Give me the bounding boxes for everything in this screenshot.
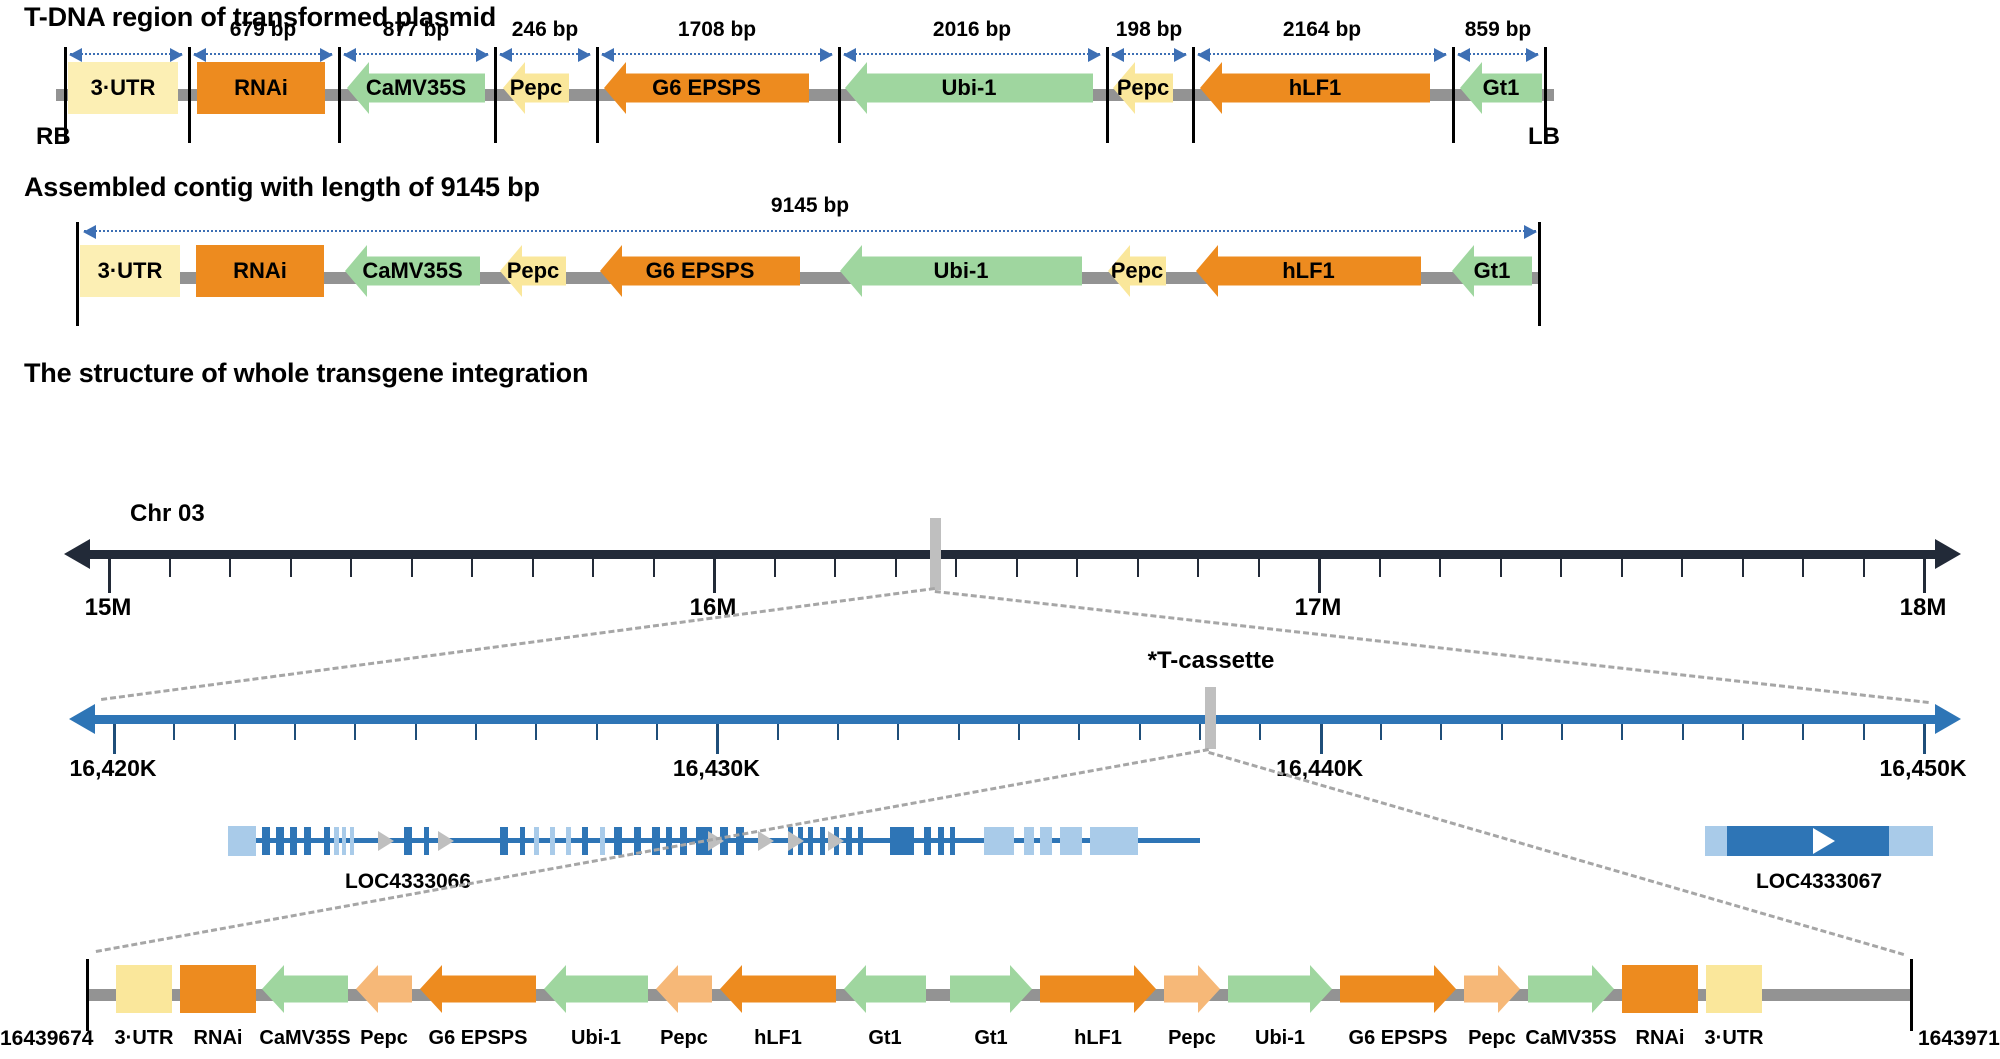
chromosome-major-tick bbox=[1318, 559, 1321, 593]
tdna-feature-label: 3·UTR bbox=[91, 75, 156, 101]
tdna-measure-label: 877 bp bbox=[383, 18, 450, 42]
tdna-feature-gt1: Gt1 bbox=[1460, 62, 1542, 114]
contig-feature-label: Pepc bbox=[1111, 258, 1164, 284]
chromosome-minor-tick bbox=[471, 559, 473, 577]
contig-feature-label: Gt1 bbox=[1474, 258, 1511, 284]
cassette-feature-6 bbox=[656, 965, 712, 1013]
cassette-feature-label: Gt1 bbox=[974, 1027, 1007, 1050]
tdna-feature-rnai: RNAi bbox=[197, 62, 325, 114]
cassette-feature-7 bbox=[720, 965, 836, 1013]
zoom-tick-label: 16,450K bbox=[1880, 755, 1967, 782]
gene-model-exon bbox=[666, 827, 672, 855]
contig-measure-arrow bbox=[84, 230, 1536, 232]
chromosome-minor-tick bbox=[1258, 559, 1260, 577]
zoom-minor-tick bbox=[1863, 724, 1865, 740]
gene-model-utr-exon bbox=[1060, 827, 1082, 855]
zoom-minor-tick bbox=[475, 724, 477, 740]
zoom-major-tick bbox=[1923, 724, 1926, 754]
tdna-measure-arrow bbox=[1112, 53, 1186, 55]
zoom-minor-tick bbox=[1742, 724, 1744, 740]
connector-chr-to-zoom-right bbox=[935, 590, 1929, 704]
gene-model-exon bbox=[262, 827, 270, 855]
zoom-minor-tick bbox=[415, 724, 417, 740]
contig-feature-hlf1: hLF1 bbox=[1196, 245, 1421, 297]
cassette-feature-label: CaMV35S bbox=[259, 1027, 350, 1050]
chromosome-minor-tick bbox=[1439, 559, 1441, 577]
tdna-feature-3utr: 3·UTR bbox=[68, 62, 178, 114]
zoom-major-tick bbox=[113, 724, 116, 754]
gene-model-label-loc4333067: LOC4333067 bbox=[1756, 870, 1882, 894]
gene-model-label-loc4333066: LOC4333066 bbox=[345, 870, 471, 894]
gene-model-direction-chevron bbox=[788, 831, 804, 851]
cassette-left-coordinate: 16439674 bbox=[0, 1027, 93, 1051]
zoom-minor-tick bbox=[1561, 724, 1563, 740]
cassette-feature-17 bbox=[1706, 965, 1762, 1013]
zoom-minor-tick bbox=[596, 724, 598, 740]
chromosome-minor-tick bbox=[1681, 559, 1683, 577]
zoom-minor-tick bbox=[777, 724, 779, 740]
tdna-boundary-bar bbox=[1452, 47, 1455, 143]
tdna-measure-label: 859 bp bbox=[1465, 18, 1532, 42]
chromosome-major-tick bbox=[713, 559, 716, 593]
cassette-feature-0 bbox=[116, 965, 172, 1013]
cassette-feature-1 bbox=[180, 965, 256, 1013]
chromosome-minor-tick bbox=[1621, 559, 1623, 577]
zoom-minor-tick bbox=[1682, 724, 1684, 740]
chromosome-minor-tick bbox=[532, 559, 534, 577]
gene-model-exon bbox=[424, 827, 429, 855]
tdna-measure-label: 1708 bp bbox=[678, 18, 756, 42]
cassette-feature-label: Pepc bbox=[1468, 1027, 1516, 1050]
cassette-feature-label: G6 EPSPS bbox=[429, 1027, 528, 1050]
zoom-tick-label: 16,440K bbox=[1276, 755, 1363, 782]
cassette-feature-5 bbox=[544, 965, 648, 1013]
tdna-boundary-bar bbox=[494, 47, 497, 143]
zoom-minor-tick bbox=[1018, 724, 1020, 740]
tdna-feature-hlf1: hLF1 bbox=[1200, 62, 1430, 114]
tdna-rb-label: RB bbox=[36, 123, 71, 151]
zoom-axis-line bbox=[95, 715, 1935, 724]
cassette-feature-3 bbox=[356, 965, 412, 1013]
chromosome-minor-tick bbox=[895, 559, 897, 577]
contig-feature-label: Ubi-1 bbox=[934, 258, 989, 284]
gene-model-exon bbox=[938, 827, 944, 855]
tdna-feature-label: G6 EPSPS bbox=[652, 75, 761, 101]
tdna-boundary-bar bbox=[596, 47, 599, 143]
chromosome-name-label: Chr 03 bbox=[130, 500, 205, 528]
tdna-feature-pepc: Pepc bbox=[503, 62, 569, 114]
gene-model-utr-exon bbox=[984, 827, 1014, 855]
cassette-feature-15 bbox=[1528, 965, 1614, 1013]
tdna-feature-ubi1: Ubi-1 bbox=[845, 62, 1093, 114]
zoom-minor-tick bbox=[1078, 724, 1080, 740]
chromosome-minor-tick bbox=[592, 559, 594, 577]
cassette-feature-label: Ubi-1 bbox=[571, 1027, 621, 1050]
cassette-feature-label: hLF1 bbox=[1074, 1027, 1122, 1050]
chromosome-major-tick bbox=[108, 559, 111, 593]
cassette-feature-label: G6 EPSPS bbox=[1349, 1027, 1448, 1050]
cassette-feature-label: Pepc bbox=[360, 1027, 408, 1050]
tdna-measure-arrow bbox=[1458, 53, 1538, 55]
gene-model-exon bbox=[520, 827, 525, 855]
chromosome-minor-tick bbox=[290, 559, 292, 577]
t-cassette-label: *T-cassette bbox=[1148, 647, 1275, 675]
tdna-feature-label: Gt1 bbox=[1483, 75, 1520, 101]
contig-feature-label: CaMV35S bbox=[362, 258, 462, 284]
cassette-feature-label: Pepc bbox=[660, 1027, 708, 1050]
figure-canvas: T-DNA region of transformed plasmid 679 … bbox=[0, 0, 2000, 1059]
gene-model-exon bbox=[846, 827, 852, 855]
chromosome-minor-tick bbox=[411, 559, 413, 577]
tdna-feature-label: Ubi-1 bbox=[942, 75, 997, 101]
gene-model-direction-chevron bbox=[758, 831, 774, 851]
zoom-tick-label: 16,430K bbox=[673, 755, 760, 782]
gene-model-utr-exon bbox=[1024, 827, 1034, 855]
tdna-measure-arrow bbox=[602, 53, 832, 55]
cassette-feature-label: RNAi bbox=[194, 1027, 243, 1050]
zoom-minor-tick bbox=[837, 724, 839, 740]
zoom-minor-tick bbox=[1621, 724, 1623, 740]
cassette-feature-label: 3·UTR bbox=[1705, 1027, 1764, 1050]
zoom-minor-tick bbox=[354, 724, 356, 740]
zoom-minor-tick bbox=[294, 724, 296, 740]
cassette-feature-12 bbox=[1228, 965, 1332, 1013]
gene-model-loc4333067-exon bbox=[1727, 826, 1889, 856]
gene-model-direction-chevron bbox=[1813, 828, 1835, 854]
cassette-feature-11 bbox=[1164, 965, 1220, 1013]
chromosome-axis-arrow-right bbox=[1935, 539, 1961, 569]
tdna-measure-label: 2164 bp bbox=[1283, 18, 1361, 42]
tdna-measure-label: 198 bp bbox=[1116, 18, 1183, 42]
gene-model-exon bbox=[820, 827, 825, 855]
contig-boundary-bar bbox=[1538, 222, 1541, 326]
gene-model-direction-chevron bbox=[378, 831, 394, 851]
cassette-feature-4 bbox=[420, 965, 536, 1013]
chromosome-axis-arrow-left bbox=[64, 539, 90, 569]
contig-feature-pepc: Pepc bbox=[500, 245, 566, 297]
chromosome-minor-tick bbox=[1076, 559, 1078, 577]
cassette-right-coordinate: 16439710 bbox=[1918, 1027, 2000, 1051]
cassette-feature-10 bbox=[1040, 965, 1156, 1013]
contig-feature-3utr: 3·UTR bbox=[80, 245, 180, 297]
zoom-axis-arrow-left bbox=[69, 704, 95, 734]
gene-model-direction-chevron bbox=[828, 831, 844, 851]
chromosome-minor-tick bbox=[1863, 559, 1865, 577]
contig-boundary-bar bbox=[76, 222, 79, 326]
chromosome-minor-tick bbox=[350, 559, 352, 577]
zoom-minor-tick bbox=[958, 724, 960, 740]
zoom-major-tick bbox=[1320, 724, 1323, 754]
chromosome-insertion-marker bbox=[930, 518, 941, 590]
tdna-measure-arrow bbox=[194, 53, 332, 55]
gene-model-exon bbox=[924, 827, 931, 855]
zoom-minor-tick bbox=[1199, 724, 1201, 740]
tdna-measure-arrow bbox=[844, 53, 1100, 55]
zoom-minor-tick bbox=[173, 724, 175, 740]
cassette-feature-14 bbox=[1464, 965, 1520, 1013]
connector-chr-to-zoom-left bbox=[101, 587, 935, 701]
cassette-feature-label: 3·UTR bbox=[115, 1027, 174, 1050]
tdna-boundary-bar bbox=[188, 47, 191, 143]
zoom-minor-tick bbox=[1380, 724, 1382, 740]
chromosome-tick-label: 18M bbox=[1900, 594, 1947, 622]
gene-model-utr-exon bbox=[228, 826, 256, 856]
gene-model-exon bbox=[304, 827, 311, 855]
zoom-minor-tick bbox=[234, 724, 236, 740]
chromosome-major-tick bbox=[1923, 559, 1926, 593]
tdna-feature-label: CaMV35S bbox=[366, 75, 466, 101]
tdna-boundary-bar bbox=[838, 47, 841, 143]
gene-model-exon bbox=[950, 827, 955, 855]
chromosome-minor-tick bbox=[1016, 559, 1018, 577]
chromosome-tick-label: 15M bbox=[85, 594, 132, 622]
t-cassette-marker bbox=[1205, 687, 1216, 749]
gene-model-exon bbox=[534, 827, 539, 855]
chromosome-minor-tick bbox=[1560, 559, 1562, 577]
gene-model-exon bbox=[334, 827, 339, 855]
cassette-feature-8 bbox=[844, 965, 926, 1013]
tdna-measure-arrow bbox=[344, 53, 488, 55]
contig-feature-rnai: RNAi bbox=[196, 245, 324, 297]
gene-model-direction-chevron bbox=[438, 831, 454, 851]
zoom-minor-tick bbox=[535, 724, 537, 740]
tdna-feature-label: Pepc bbox=[1117, 75, 1170, 101]
cassette-feature-13 bbox=[1340, 965, 1456, 1013]
gene-model-exon bbox=[736, 827, 744, 855]
tdna-feature-g6epsps: G6 EPSPS bbox=[604, 62, 809, 114]
gene-model-exon bbox=[404, 827, 412, 855]
cassette-feature-label: Pepc bbox=[1168, 1027, 1216, 1050]
zoom-minor-tick bbox=[1139, 724, 1141, 740]
gene-model-exon bbox=[550, 827, 555, 855]
zoom-minor-tick bbox=[897, 724, 899, 740]
tdna-measure-label: 246 bp bbox=[512, 18, 579, 42]
tdna-measure-label: 2016 bp bbox=[933, 18, 1011, 42]
zoom-axis-arrow-right bbox=[1935, 704, 1961, 734]
cassette-feature-label: Gt1 bbox=[868, 1027, 901, 1050]
tdna-measure-label: 679 bp bbox=[230, 18, 297, 42]
chromosome-minor-tick bbox=[1500, 559, 1502, 577]
contig-feature-label: hLF1 bbox=[1282, 258, 1335, 284]
tdna-feature-label: Pepc bbox=[510, 75, 563, 101]
contig-feature-camv35s: CaMV35S bbox=[345, 245, 480, 297]
chromosome-minor-tick bbox=[1379, 559, 1381, 577]
cassette-boundary-bar bbox=[1910, 959, 1913, 1031]
tdna-measure-arrow bbox=[1198, 53, 1446, 55]
cassette-feature-label: RNAi bbox=[1636, 1027, 1685, 1050]
cassette-feature-label: CaMV35S bbox=[1525, 1027, 1616, 1050]
zoom-minor-tick bbox=[1802, 724, 1804, 740]
gene-model-exon bbox=[582, 827, 588, 855]
contig-length-label: 9145 bp bbox=[771, 194, 849, 218]
tdna-boundary-bar bbox=[338, 47, 341, 143]
chromosome-minor-tick bbox=[955, 559, 957, 577]
contig-feature-g6epsps: G6 EPSPS bbox=[600, 245, 800, 297]
cassette-boundary-bar bbox=[86, 959, 89, 1031]
chromosome-minor-tick bbox=[169, 559, 171, 577]
tdna-boundary-bar bbox=[1192, 47, 1195, 143]
chromosome-minor-tick bbox=[1742, 559, 1744, 577]
chromosome-minor-tick bbox=[1197, 559, 1199, 577]
gene-model-exon bbox=[858, 827, 863, 855]
gene-model-exon bbox=[350, 827, 354, 855]
contig-feature-label: G6 EPSPS bbox=[646, 258, 755, 284]
gene-model-exon bbox=[890, 827, 914, 855]
cassette-feature-label: Ubi-1 bbox=[1255, 1027, 1305, 1050]
tdna-measure-arrow bbox=[70, 53, 182, 55]
chromosome-minor-tick bbox=[1137, 559, 1139, 577]
contig-feature-label: RNAi bbox=[233, 258, 287, 284]
chromosome-minor-tick bbox=[834, 559, 836, 577]
contig-feature-label: 3·UTR bbox=[98, 258, 163, 284]
tdna-feature-pepc: Pepc bbox=[1113, 62, 1173, 114]
tdna-feature-label: hLF1 bbox=[1289, 75, 1342, 101]
tdna-lb-label: LB bbox=[1528, 123, 1560, 151]
gene-model-utr-exon bbox=[1090, 827, 1138, 855]
zoom-minor-tick bbox=[1440, 724, 1442, 740]
cassette-feature-2 bbox=[262, 965, 348, 1013]
gene-model-exon bbox=[600, 827, 605, 855]
tdna-measure-arrow bbox=[500, 53, 590, 55]
chromosome-axis-line bbox=[90, 550, 1935, 559]
gene-model-exon bbox=[290, 827, 297, 855]
zoom-major-tick bbox=[716, 724, 719, 754]
gene-model-exon bbox=[500, 827, 508, 855]
gene-model-exon bbox=[614, 827, 622, 855]
chromosome-minor-tick bbox=[774, 559, 776, 577]
zoom-minor-tick bbox=[656, 724, 658, 740]
gene-model-exon bbox=[342, 827, 346, 855]
cassette-feature-9 bbox=[950, 965, 1032, 1013]
chromosome-tick-label: 17M bbox=[1295, 594, 1342, 622]
contig-feature-label: Pepc bbox=[507, 258, 560, 284]
tdna-feature-label: RNAi bbox=[234, 75, 288, 101]
gene-model-exon bbox=[566, 827, 571, 855]
tdna-feature-camv35s: CaMV35S bbox=[347, 62, 485, 114]
contig-feature-gt1: Gt1 bbox=[1452, 245, 1532, 297]
gene-model-exon bbox=[680, 827, 687, 855]
chromosome-minor-tick bbox=[653, 559, 655, 577]
zoom-minor-tick bbox=[1259, 724, 1261, 740]
chromosome-minor-tick bbox=[229, 559, 231, 577]
cassette-feature-16 bbox=[1622, 965, 1698, 1013]
contig-feature-pepc: Pepc bbox=[1108, 245, 1166, 297]
zoom-tick-label: 16,420K bbox=[70, 755, 157, 782]
panel-title-integration: The structure of whole transgene integra… bbox=[24, 358, 588, 389]
gene-model-exon bbox=[324, 827, 330, 855]
chromosome-minor-tick bbox=[1802, 559, 1804, 577]
panel-title-contig: Assembled contig with length of 9145 bp bbox=[24, 172, 540, 203]
cassette-feature-label: hLF1 bbox=[754, 1027, 802, 1050]
zoom-minor-tick bbox=[1501, 724, 1503, 740]
tdna-boundary-bar bbox=[1106, 47, 1109, 143]
gene-model-exon bbox=[808, 827, 813, 855]
contig-feature-ubi1: Ubi-1 bbox=[840, 245, 1082, 297]
gene-model-utr-exon bbox=[1040, 827, 1052, 855]
gene-model-exon bbox=[276, 827, 284, 855]
